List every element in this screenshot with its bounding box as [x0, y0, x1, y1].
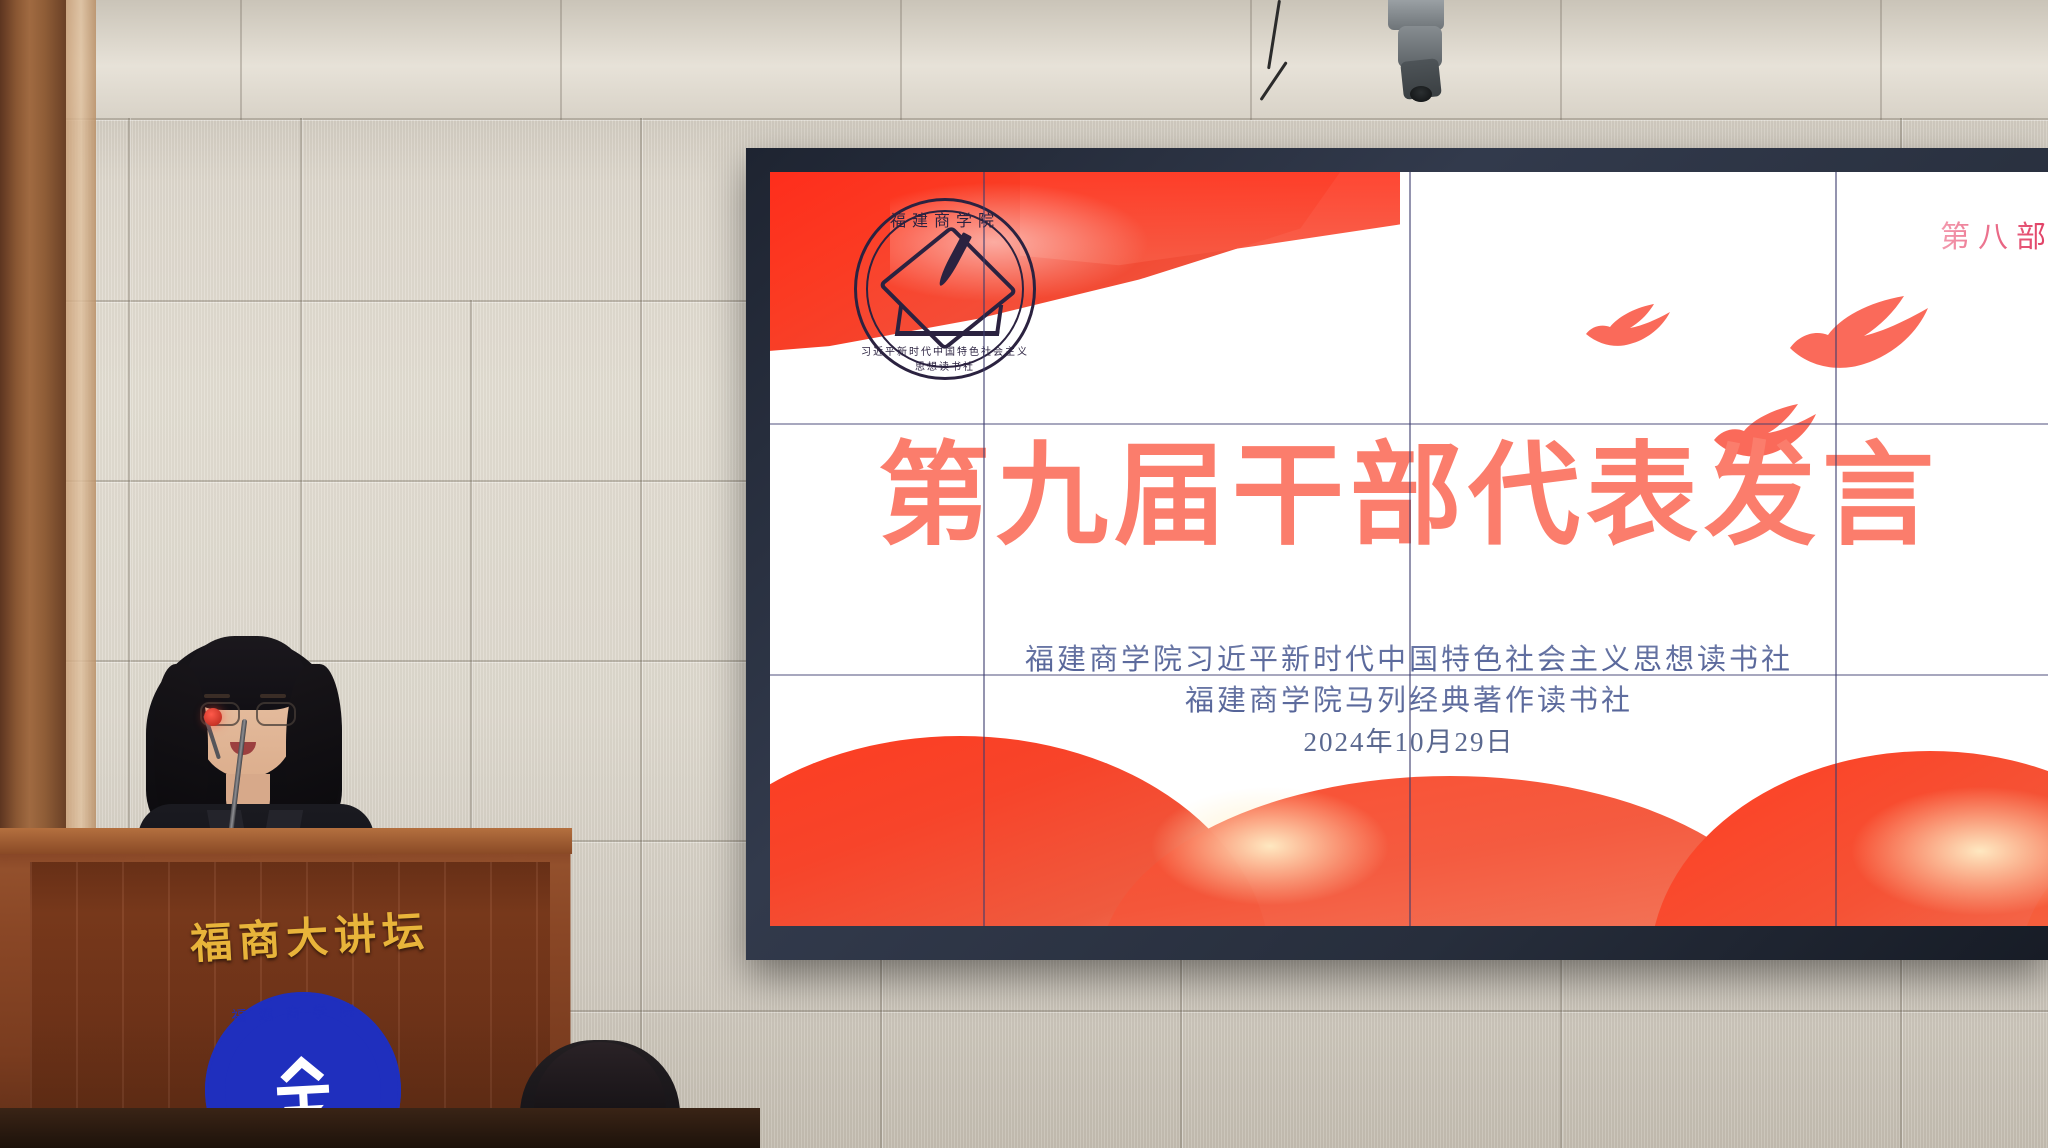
ceiling-seam: [1880, 0, 1882, 120]
circular-seal-icon: 福建商学院 习近平新时代中国特色社会主义思想读书社: [854, 198, 1036, 380]
seal-book-shape: [878, 225, 1018, 351]
ceiling-seam: [240, 0, 242, 120]
seal-book-base: [895, 305, 1003, 336]
silk-glow: [1150, 786, 1390, 906]
led-tile-seam: [770, 674, 2048, 676]
glasses-lens: [256, 702, 296, 726]
camera-lens-icon: [1410, 86, 1432, 102]
speaker-eyebrow: [260, 694, 286, 698]
slide-canvas: 福建商学院 习近平新时代中国特色社会主义思想读书社 第八部: [770, 172, 2048, 926]
wall-panel-seam: [1560, 960, 1562, 1148]
led-tile-seam: [770, 423, 2048, 425]
led-tile-seam: [1835, 172, 1837, 926]
seal-ring-bottom-text: 习近平新时代中国特色社会主义思想读书社: [857, 343, 1033, 373]
ceiling: [0, 0, 2048, 120]
seal-ring-top-text: 福建商学院: [857, 207, 1033, 231]
microphone-icon: [204, 708, 222, 726]
dove-icon: [1582, 300, 1674, 358]
speaker-eyebrow: [204, 694, 230, 698]
slide-section-label: 第八部: [1940, 212, 2048, 256]
led-tile-seam: [983, 172, 985, 926]
ceiling-seam: [1250, 0, 1252, 120]
lectern-top-edge: [0, 828, 572, 854]
led-tile-seam: [1409, 172, 1411, 926]
wall-panel-seam: [880, 960, 882, 1148]
wall-panel-seam: [1180, 960, 1182, 1148]
conference-hall-photo: 福建商学院 习近平新时代中国特色社会主义思想读书社 第八部: [0, 0, 2048, 1148]
seal-pen-shape: [936, 232, 972, 288]
dove-icon: [1784, 292, 1932, 384]
ceiling-seam: [900, 0, 902, 120]
wall-panel-seam: [640, 118, 642, 1148]
led-wall-screen[interactable]: 福建商学院 习近平新时代中国特色社会主义思想读书社 第八部: [770, 172, 2048, 926]
ceiling-seam: [560, 0, 562, 120]
foreground-shadow: [0, 1108, 760, 1148]
wall-panel-seam: [0, 118, 2048, 120]
ceiling-seam: [1560, 0, 1562, 120]
